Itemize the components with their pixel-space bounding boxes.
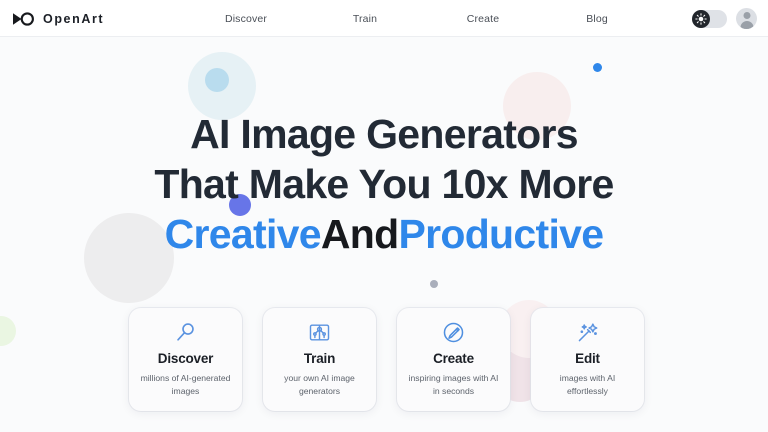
feature-card-create[interactable]: Create inspiring images with AI in secon… [397, 308, 510, 411]
pencil-circle-icon [442, 319, 465, 345]
feature-card-desc: images with AI effortlessly [540, 372, 636, 397]
feature-card-desc: millions of AI-generated images [138, 372, 234, 397]
headline-word-productive: Productive [398, 211, 603, 257]
page-root: OpenArt Discover Train Create Blog [0, 0, 768, 432]
feature-card-discover[interactable]: Discover millions of AI-generated images [129, 308, 242, 411]
nav-link-train[interactable]: Train [306, 13, 424, 25]
user-avatar[interactable] [736, 8, 757, 29]
avatar-body-shape [740, 21, 753, 29]
openart-bowtie-logo-icon [12, 12, 34, 26]
feature-cards: Discover millions of AI-generated images [129, 308, 645, 411]
headline-line-1: AI Image Generators [0, 109, 768, 159]
navbar: OpenArt Discover Train Create Blog [0, 0, 768, 37]
feature-card-title: Edit [575, 351, 600, 366]
brand-logo[interactable]: OpenArt [12, 0, 104, 37]
feature-card-title: Discover [158, 351, 213, 366]
book-neural-icon [308, 319, 331, 345]
page-title: AI Image Generators That Make You 10x Mo… [0, 109, 768, 259]
magic-wand-icon [576, 319, 599, 345]
sun-icon [695, 13, 707, 25]
nav-links: Discover Train Create Blog [186, 0, 652, 37]
headline-line-3: CreativeAndProductive [0, 209, 768, 259]
hero-section: AI Image Generators That Make You 10x Mo… [0, 37, 768, 432]
headline-line-2: That Make You 10x More [0, 159, 768, 209]
feature-card-desc: inspiring images with AI in seconds [406, 372, 502, 397]
nav-link-create[interactable]: Create [424, 13, 542, 25]
feature-card-train[interactable]: Train your own AI image generators [263, 308, 376, 411]
feature-card-edit[interactable]: Edit images with AI effortlessly [531, 308, 644, 411]
brand-name: OpenArt [43, 12, 104, 26]
headline-word-and: And [321, 211, 399, 257]
nav-link-discover[interactable]: Discover [186, 13, 306, 25]
headline-word-creative: Creative [165, 211, 321, 257]
feature-card-title: Train [304, 351, 335, 366]
theme-toggle[interactable] [692, 10, 727, 28]
navbar-right-controls [692, 0, 757, 37]
avatar-head-shape [743, 12, 750, 19]
magnifier-icon [174, 319, 197, 345]
nav-link-blog[interactable]: Blog [542, 13, 652, 25]
feature-card-desc: your own AI image generators [272, 372, 368, 397]
feature-card-title: Create [433, 351, 474, 366]
theme-toggle-knob [692, 10, 710, 28]
